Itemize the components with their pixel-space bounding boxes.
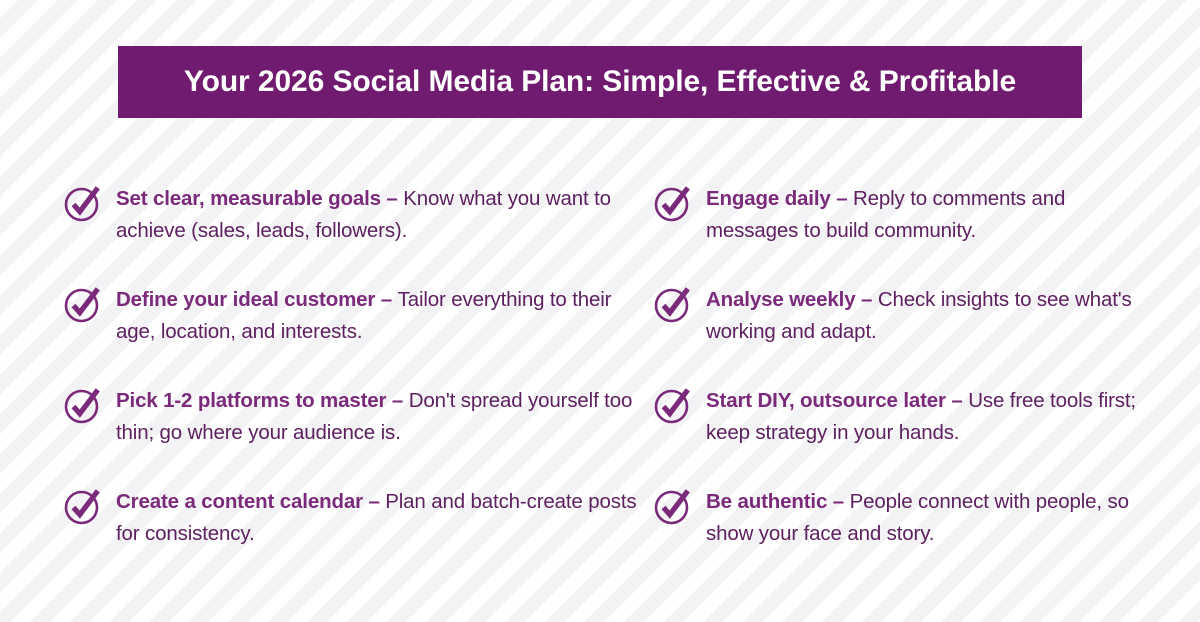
infographic-page: Your 2026 Social Media Plan: Simple, Eff… <box>0 0 1200 622</box>
tip-item: Set clear, measurable goals – Know what … <box>56 172 646 273</box>
tip-text: Be authentic – People connect with peopl… <box>706 475 1156 550</box>
check-circle-icon <box>62 485 104 527</box>
tip-lead: Engage daily – <box>706 187 853 210</box>
check-circle-icon <box>652 485 694 527</box>
tip-item: Analyse weekly – Check insights to see w… <box>646 273 1156 374</box>
tip-item: Define your ideal customer – Tailor ever… <box>56 273 646 374</box>
tip-item: Be authentic – People connect with peopl… <box>646 475 1156 576</box>
tip-text: Pick 1-2 platforms to master – Don't spr… <box>116 374 646 449</box>
check-circle-icon <box>652 182 694 224</box>
tip-item: Pick 1-2 platforms to master – Don't spr… <box>56 374 646 475</box>
tip-text: Define your ideal customer – Tailor ever… <box>116 273 646 348</box>
tips-column-right: Engage daily – Reply to comments and mes… <box>646 172 1156 576</box>
tip-lead: Start DIY, outsource later – <box>706 389 968 412</box>
tip-lead: Define your ideal customer – <box>116 288 398 311</box>
tip-item: Start DIY, outsource later – Use free to… <box>646 374 1156 475</box>
check-circle-icon <box>62 384 104 426</box>
tip-text: Analyse weekly – Check insights to see w… <box>706 273 1156 348</box>
tips-column-left: Set clear, measurable goals – Know what … <box>56 172 646 576</box>
tip-text: Start DIY, outsource later – Use free to… <box>706 374 1156 449</box>
title-banner: Your 2026 Social Media Plan: Simple, Eff… <box>118 46 1082 118</box>
tip-lead: Analyse weekly – <box>706 288 878 311</box>
tip-text: Engage daily – Reply to comments and mes… <box>706 172 1156 247</box>
check-circle-icon <box>62 283 104 325</box>
tip-lead: Be authentic – <box>706 490 850 513</box>
tip-text: Set clear, measurable goals – Know what … <box>116 172 646 247</box>
tip-item: Create a content calendar – Plan and bat… <box>56 475 646 576</box>
tip-lead: Pick 1-2 platforms to master – <box>116 389 409 412</box>
page-title: Your 2026 Social Media Plan: Simple, Eff… <box>184 67 1016 97</box>
tip-text: Create a content calendar – Plan and bat… <box>116 475 646 550</box>
check-circle-icon <box>652 384 694 426</box>
tip-lead: Create a content calendar – <box>116 490 385 513</box>
tip-item: Engage daily – Reply to comments and mes… <box>646 172 1156 273</box>
tip-lead: Set clear, measurable goals – <box>116 187 403 210</box>
check-circle-icon <box>62 182 104 224</box>
check-circle-icon <box>652 283 694 325</box>
